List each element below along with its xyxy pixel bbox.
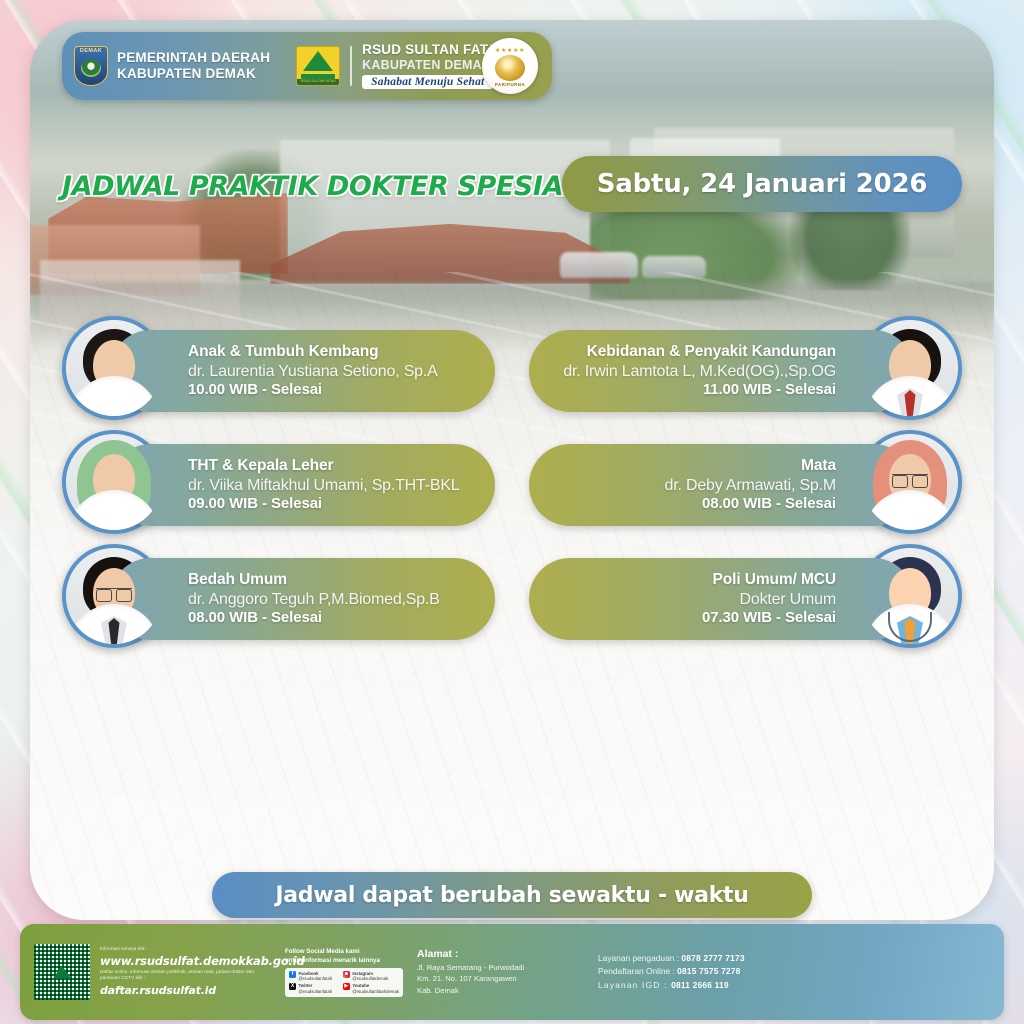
- glasses-icon: [96, 588, 132, 599]
- contact-registration: Pendaftaran Online : 0815 7575 7278: [598, 965, 990, 979]
- social-heading-1: Follow Social Media kami: [285, 947, 403, 956]
- gov-line-1: PEMERINTAH DAERAH: [117, 50, 270, 66]
- social-link-facebook[interactable]: f Facebook @rsudsultanfatah: [289, 971, 339, 982]
- specialty-label: Poli Umum/ MCU: [702, 571, 836, 590]
- doctor-name: dr. Laurentia Yustiana Setiono, Sp.A: [188, 362, 438, 382]
- contact-emergency: Layanan IGD : 0811 2666 119: [598, 979, 990, 993]
- government-identity: DEMAK PEMERINTAH DAERAH KABUPATEN DEMAK: [62, 46, 270, 86]
- social-handle: @rsudsultanfatahdemak: [352, 989, 399, 994]
- accreditation-label: PARIPURNA: [495, 82, 525, 87]
- contact-number[interactable]: 0878 2777 7173: [681, 953, 744, 963]
- practice-time: 08.00 WIB - Selesai: [188, 609, 440, 627]
- twitter-x-icon: X: [289, 983, 296, 990]
- photo-roof-center: [270, 220, 630, 284]
- photo-roof-left-second: [30, 225, 200, 295]
- footer-service-note: Daftar online, informasi antrian polikli…: [100, 969, 275, 982]
- footer-contact-block: Layanan pengaduan : 0878 2777 7173 Penda…: [588, 952, 990, 993]
- gov-line-2: KABUPATEN DEMAK: [117, 66, 270, 82]
- schedule-row: Bedah Umum dr. Anggoro Teguh P,M.Biomed,…: [62, 544, 962, 658]
- address-line: Km. 21. No. 107 Karangawen: [417, 973, 578, 984]
- practice-time: 11.00 WIB - Selesai: [563, 381, 836, 399]
- specialty-label: Anak & Tumbuh Kembang: [188, 343, 438, 362]
- practice-time: 08.00 WIB - Selesai: [665, 495, 836, 513]
- schedule-change-notice: Jadwal dapat berubah sewaktu - waktu: [212, 872, 812, 918]
- schedule-card-text: THT & Kepala Leher dr. Viika Miftakhul U…: [188, 457, 460, 514]
- schedule-card[interactable]: THT & Kepala Leher dr. Viika Miftakhul U…: [110, 444, 495, 526]
- date-badge: Sabtu, 24 Januari 2026: [562, 156, 962, 212]
- website-url[interactable]: www.rsudsulfat.demokkab.go.id: [100, 954, 275, 968]
- schedule-card[interactable]: Mata dr. Deby Armawati, Sp.M 08.00 WIB -…: [529, 444, 914, 526]
- demak-crest-icon: DEMAK: [74, 46, 108, 86]
- social-text: Instagram @rsudsulfatdemak: [352, 971, 388, 982]
- hospital-identity: RSUD SULTAN FATAH DEMAK RSUD SULTAN FATA…: [296, 42, 507, 89]
- contact-number[interactable]: 0811 2666 119: [671, 980, 729, 990]
- government-name: PEMERINTAH DAERAH KABUPATEN DEMAK: [117, 50, 270, 82]
- practice-time: 10.00 WIB - Selesai: [188, 381, 438, 399]
- hospital-tagline: Sahabat Menuju Sehat: [362, 75, 493, 90]
- header-bar: DEMAK PEMERINTAH DAERAH KABUPATEN DEMAK …: [62, 32, 552, 100]
- doctor-name: Dokter Umum: [702, 590, 836, 610]
- photo-car-one: [560, 252, 638, 278]
- schedule-card[interactable]: Poli Umum/ MCU Dokter Umum 07.30 WIB - S…: [529, 558, 914, 640]
- schedule-list: Anak & Tumbuh Kembang dr. Laurentia Yust…: [62, 316, 962, 658]
- practice-time: 09.00 WIB - Selesai: [188, 495, 460, 513]
- social-link-instagram[interactable]: ◙ Instagram @rsudsulfatdemak: [343, 971, 399, 982]
- doctor-name: dr. Viika Miftakhul Umami, Sp.THT-BKL: [188, 476, 460, 496]
- address-heading: Alamat :: [417, 948, 578, 960]
- doctor-name: dr. Deby Armawati, Sp.M: [665, 476, 836, 496]
- contact-label: Pendaftaran Online :: [598, 966, 675, 976]
- page-title: JADWAL PRAKTIK DOKTER SPESIALIS: [62, 171, 609, 202]
- specialty-label: Kebidanan & Penyakit Kandungan: [563, 343, 836, 362]
- glasses-icon: [892, 474, 928, 485]
- rsud-logo-tag: RSUD SULTAN FATAH DEMAK: [297, 79, 339, 85]
- title-row: JADWAL PRAKTIK DOKTER SPESIALIS Sabtu, 2…: [62, 160, 962, 212]
- schedule-row: THT & Kepala Leher dr. Viika Miftakhul U…: [62, 430, 962, 544]
- accreditation-medal-icon: [495, 55, 525, 81]
- footer-info-label: Informasi lainnya klik :: [100, 946, 275, 953]
- contact-label: Layanan IGD :: [598, 980, 668, 990]
- contact-number[interactable]: 0815 7575 7278: [677, 966, 740, 976]
- social-text: Facebook @rsudsultanfatah: [299, 971, 333, 982]
- schedule-card-text: Poli Umum/ MCU Dokter Umum 07.30 WIB - S…: [702, 571, 836, 628]
- instagram-icon: ◙: [343, 971, 350, 978]
- address-line: Kab. Demak: [417, 985, 578, 996]
- address-line: Jl. Raya Semarang - Purwodadi: [417, 962, 578, 973]
- specialty-label: THT & Kepala Leher: [188, 457, 460, 476]
- schedule-card-text: Mata dr. Deby Armawati, Sp.M 08.00 WIB -…: [665, 457, 836, 514]
- qr-code-icon[interactable]: [34, 944, 90, 1000]
- schedule-card-text: Kebidanan & Penyakit Kandungan dr. Irwin…: [563, 343, 836, 400]
- social-link-youtube[interactable]: ▶ Youtube @rsudsultanfatahdemak: [343, 983, 399, 994]
- footer-social-block: Follow Social Media kami untuk informasi…: [285, 947, 403, 997]
- schedule-card[interactable]: Kebidanan & Penyakit Kandungan dr. Irwin…: [529, 330, 914, 412]
- specialty-label: Mata: [665, 457, 836, 476]
- contact-complaint: Layanan pengaduan : 0878 2777 7173: [598, 952, 990, 966]
- schedule-card[interactable]: Bedah Umum dr. Anggoro Teguh P,M.Biomed,…: [110, 558, 495, 640]
- schedule-card[interactable]: Anak & Tumbuh Kembang dr. Laurentia Yust…: [110, 330, 495, 412]
- specialty-label: Bedah Umum: [188, 571, 440, 590]
- date-label: Sabtu, 24 Januari 2026: [597, 169, 928, 199]
- doctor-name: dr. Irwin Lamtota L, M.Ked(OG).,Sp.OG: [563, 362, 836, 382]
- facebook-icon: f: [289, 971, 296, 978]
- registration-url[interactable]: daftar.rsudsulfat.id: [100, 984, 275, 997]
- social-link-twitter[interactable]: X Twitter @rsudsultanfatah: [289, 983, 339, 994]
- schedule-row: Anak & Tumbuh Kembang dr. Laurentia Yust…: [62, 316, 962, 430]
- contact-label: Layanan pengaduan :: [598, 953, 679, 963]
- social-heading-2: untuk informasi menarik lainnya: [285, 956, 403, 965]
- footer-bar: Informasi lainnya klik : www.rsudsulfat.…: [20, 924, 1004, 1020]
- footer-address-block: Alamat : Jl. Raya Semarang - Purwodadi K…: [413, 948, 578, 996]
- social-handle: @rsudsulfatdemak: [352, 976, 388, 981]
- youtube-icon: ▶: [343, 983, 350, 990]
- social-text: Youtube @rsudsultanfatahdemak: [352, 983, 399, 994]
- social-handle: @rsudsultanfatah: [299, 976, 333, 981]
- notice-label: Jadwal dapat berubah sewaktu - waktu: [275, 883, 748, 908]
- poster-root: DEMAK PEMERINTAH DAERAH KABUPATEN DEMAK …: [0, 0, 1024, 1024]
- crest-label: DEMAK: [80, 49, 102, 55]
- footer-website-block: Informasi lainnya klik : www.rsudsulfat.…: [100, 946, 275, 998]
- practice-time: 07.30 WIB - Selesai: [702, 609, 836, 627]
- header-divider: [350, 46, 352, 86]
- rsud-logo-icon: RSUD SULTAN FATAH DEMAK: [296, 46, 340, 86]
- schedule-card-text: Anak & Tumbuh Kembang dr. Laurentia Yust…: [188, 343, 438, 400]
- social-links-box: f Facebook @rsudsultanfatah ◙ Instagram …: [285, 968, 403, 997]
- photo-car-two: [642, 256, 706, 278]
- accreditation-stars: ★★★★★: [495, 48, 525, 54]
- schedule-card-text: Bedah Umum dr. Anggoro Teguh P,M.Biomed,…: [188, 571, 440, 628]
- social-text: Twitter @rsudsultanfatah: [299, 983, 333, 994]
- doctor-name: dr. Anggoro Teguh P,M.Biomed,Sp.B: [188, 590, 440, 610]
- social-handle: @rsudsultanfatah: [299, 989, 333, 994]
- accreditation-badge-icon: ★★★★★ PARIPURNA: [482, 38, 538, 94]
